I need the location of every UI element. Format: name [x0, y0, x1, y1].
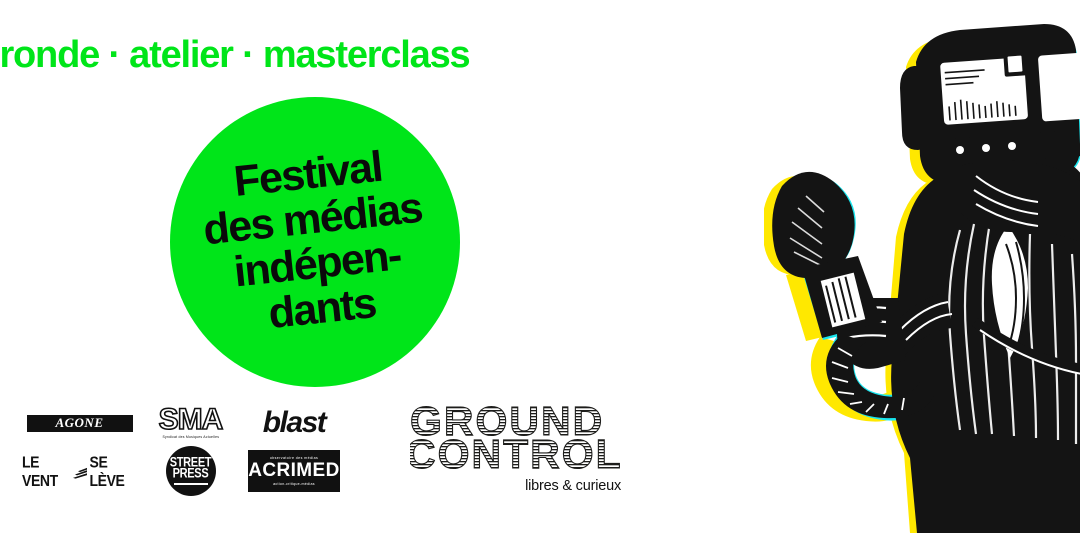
- ground-control-tagline: libres & curieux: [410, 478, 625, 494]
- reporter-illustration: [764, 0, 1080, 533]
- blast-wordmark: blast: [263, 406, 326, 440]
- sma-subtitle: Syndicat des Musiques Actuelles: [162, 435, 219, 439]
- ground-control-wordmark: GROUND CONTROL GROUND CONTROL: [410, 404, 625, 476]
- kicker-text: -ronde · atelier · masterclass: [0, 34, 469, 77]
- partner-logo-street-press[interactable]: STREET PRESS: [166, 446, 216, 496]
- partner-logo-blast[interactable]: blast: [263, 406, 326, 440]
- ground-control-logo[interactable]: GROUND CONTROL GROUND CONTROL libres & c…: [410, 404, 625, 494]
- wind-swoosh-icon: [72, 465, 88, 478]
- festival-badge: Festival des médias indépen- dants: [170, 97, 460, 387]
- partner-logo-sma[interactable]: SMA Syndicat des Musiques Actuelles: [159, 407, 223, 439]
- festival-badge-text: Festival des médias indépen- dants: [156, 83, 475, 402]
- svg-text:CONTROL: CONTROL: [410, 431, 623, 476]
- acrimed-badge: observatoire des médias ACRIMED action-c…: [248, 450, 340, 492]
- street-press-rule: [174, 483, 208, 485]
- street-press-line-2: PRESS: [173, 467, 209, 481]
- le-vent-text: LE VENT: [22, 453, 70, 490]
- le-vent-se-leve-wordmark: LE VENT SE LÈVE: [22, 453, 137, 490]
- partner-logo-agone[interactable]: AGONE: [27, 415, 133, 432]
- partner-logo-le-vent-se-leve[interactable]: LE VENT SE LÈVE: [22, 455, 137, 487]
- agone-wordmark: AGONE: [27, 415, 133, 432]
- festival-poster: -ronde · atelier · masterclass dé en- ce…: [0, 0, 1080, 533]
- acrimed-wordmark: ACRIMED: [248, 461, 339, 480]
- partner-logo-acrimed[interactable]: observatoire des médias ACRIMED action-c…: [248, 450, 340, 492]
- reporter-with-camera-head-and-microphone-icon: [764, 0, 1080, 533]
- sma-wordmark: SMA: [159, 407, 223, 433]
- acrimed-tagline-bottom: action-critique-médias: [273, 482, 315, 486]
- se-leve-text: SE LÈVE: [90, 453, 138, 490]
- headline-line-1: dé: [0, 292, 30, 376]
- badge-line-4: dants: [266, 281, 377, 337]
- street-press-badge: STREET PRESS: [166, 446, 216, 496]
- partner-logos: AGONE SMA Syndicat des Musiques Actuelle…: [22, 400, 342, 496]
